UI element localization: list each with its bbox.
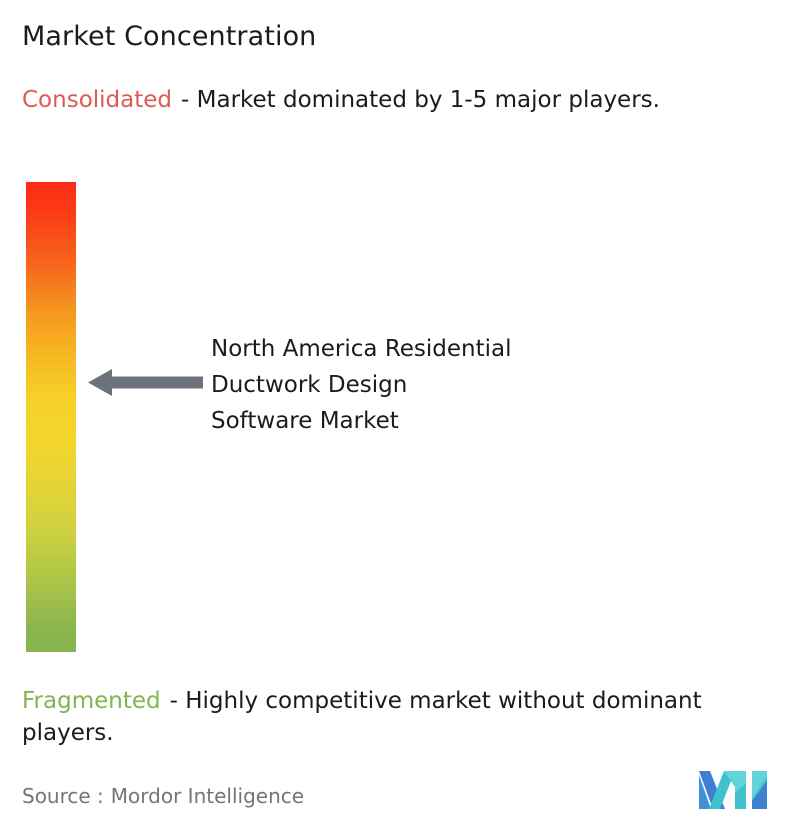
legend-fragmented: Fragmented- Highly competitive market wi… — [22, 685, 790, 749]
callout-line-1: North America Residential — [211, 331, 631, 367]
legend-fragmented-separator: - — [170, 688, 178, 714]
mordor-intelligence-logo-icon — [699, 771, 767, 809]
page-title: Market Concentration — [22, 20, 316, 54]
market-callout-label: North America Residential Ductwork Desig… — [211, 331, 631, 439]
legend-consolidated-description: Market dominated by 1-5 major players. — [197, 87, 660, 113]
source-label: Source : — [22, 784, 104, 808]
market-concentration-gradient-bar — [26, 182, 76, 652]
source-value: Mordor Intelligence — [111, 784, 304, 808]
callout-line-2: Ductwork Design — [211, 367, 631, 403]
legend-consolidated-term: Consolidated — [22, 87, 172, 113]
legend-consolidated: Consolidated- Market dominated by 1-5 ma… — [22, 84, 762, 116]
legend-fragmented-term: Fragmented — [22, 688, 161, 714]
legend-consolidated-separator: - — [181, 87, 189, 113]
callout-line-3: Software Market — [211, 403, 631, 439]
source-attribution: Source :Mordor Intelligence — [22, 783, 304, 809]
left-arrow-icon — [88, 368, 203, 397]
